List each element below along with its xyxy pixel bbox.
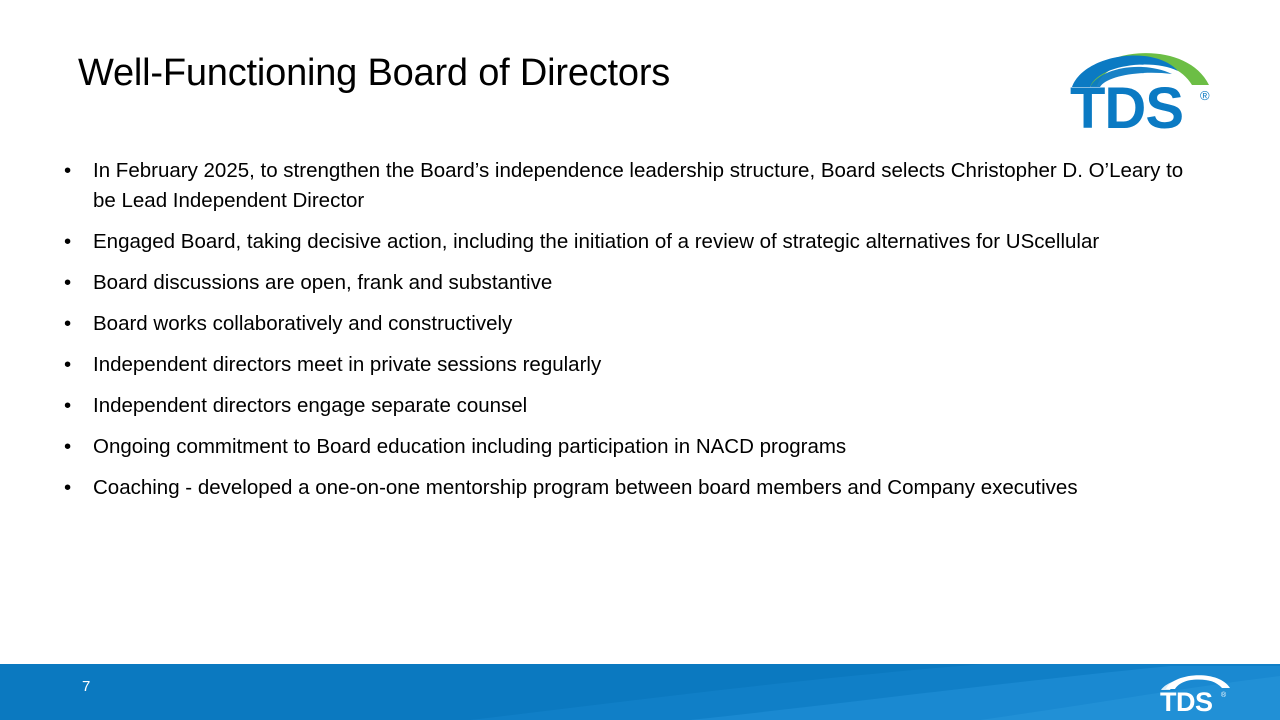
tds-wordmark-white: TDS [1160, 687, 1213, 714]
tds-wordmark: TDS [1070, 76, 1183, 134]
list-item-text: Independent directors engage separate co… [93, 391, 1186, 421]
list-item-text: Coaching - developed a one-on-one mentor… [93, 473, 1186, 503]
footer-bar [0, 664, 1280, 720]
list-item-text: Board discussions are open, frank and su… [93, 268, 1186, 298]
tds-logo-white-graphic: TDS ® [1158, 670, 1236, 714]
list-item: • Independent directors engage separate … [56, 391, 1186, 421]
bullet-icon: • [64, 391, 71, 421]
list-item: • Board discussions are open, frank and … [56, 268, 1186, 298]
tds-logo-graphic: TDS ® [1068, 38, 1218, 134]
page-title: Well-Functioning Board of Directors [78, 50, 1038, 96]
bullet-icon: • [64, 156, 71, 186]
list-item-text: Board works collaboratively and construc… [93, 309, 1186, 339]
bullet-icon: • [64, 473, 71, 503]
list-item: • Independent directors meet in private … [56, 350, 1186, 380]
tds-registered-mark-white: ® [1221, 691, 1227, 699]
footer-swoosh-decoration [0, 664, 1280, 720]
bullet-icon: • [64, 432, 71, 462]
bullet-icon: • [64, 268, 71, 298]
bullet-icon: • [64, 227, 71, 257]
list-item-text: Ongoing commitment to Board education in… [93, 432, 1186, 462]
tds-logo-white: TDS ® [1158, 670, 1236, 714]
tds-registered-mark: ® [1200, 88, 1210, 103]
page-number: 7 [82, 678, 90, 696]
bullet-icon: • [64, 350, 71, 380]
list-item: • Engaged Board, taking decisive action,… [56, 227, 1186, 257]
bullet-list: • In February 2025, to strengthen the Bo… [56, 156, 1186, 514]
list-item: • Board works collaboratively and constr… [56, 309, 1186, 339]
tds-logo: TDS ® [1068, 38, 1218, 134]
bullet-icon: • [64, 309, 71, 339]
slide-canvas: Well-Functioning Board of Directors TDS … [0, 0, 1280, 720]
list-item: • In February 2025, to strengthen the Bo… [56, 156, 1186, 216]
list-item-text: In February 2025, to strengthen the Boar… [93, 156, 1186, 216]
list-item-text: Engaged Board, taking decisive action, i… [93, 227, 1186, 257]
list-item: • Coaching - developed a one-on-one ment… [56, 473, 1186, 503]
list-item-text: Independent directors meet in private se… [93, 350, 1186, 380]
list-item: • Ongoing commitment to Board education … [56, 432, 1186, 462]
